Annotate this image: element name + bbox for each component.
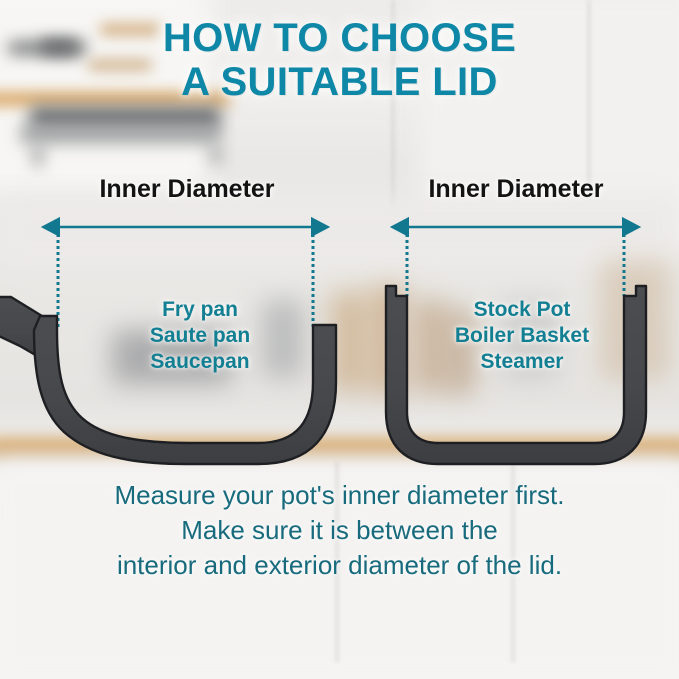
right-pot-type-3: Steamer	[432, 349, 612, 375]
instruction-line-2: Make sure it is between the	[0, 513, 679, 548]
inner-diameter-label-left: Inner Diameter	[62, 175, 312, 203]
instruction-text: Measure your pot's inner diameter first.…	[0, 478, 679, 583]
right-pot-type-2: Boiler Basket	[432, 323, 612, 349]
lid-selection-infographic: HOW TO CHOOSE A SUITABLE LID	[0, 0, 679, 679]
inner-diameter-label-right: Inner Diameter	[406, 175, 626, 203]
right-pot-type-1: Stock Pot	[432, 297, 612, 323]
left-pot-type-2: Saute pan	[110, 323, 290, 349]
left-pot-type-1: Fry pan	[110, 297, 290, 323]
left-pot-types: Fry pan Saute pan Saucepan	[110, 297, 290, 375]
left-pot-type-3: Saucepan	[110, 349, 290, 375]
instruction-line-1: Measure your pot's inner diameter first.	[0, 478, 679, 513]
instruction-line-3: interior and exterior diameter of the li…	[0, 548, 679, 583]
right-pot-types: Stock Pot Boiler Basket Steamer	[432, 297, 612, 375]
